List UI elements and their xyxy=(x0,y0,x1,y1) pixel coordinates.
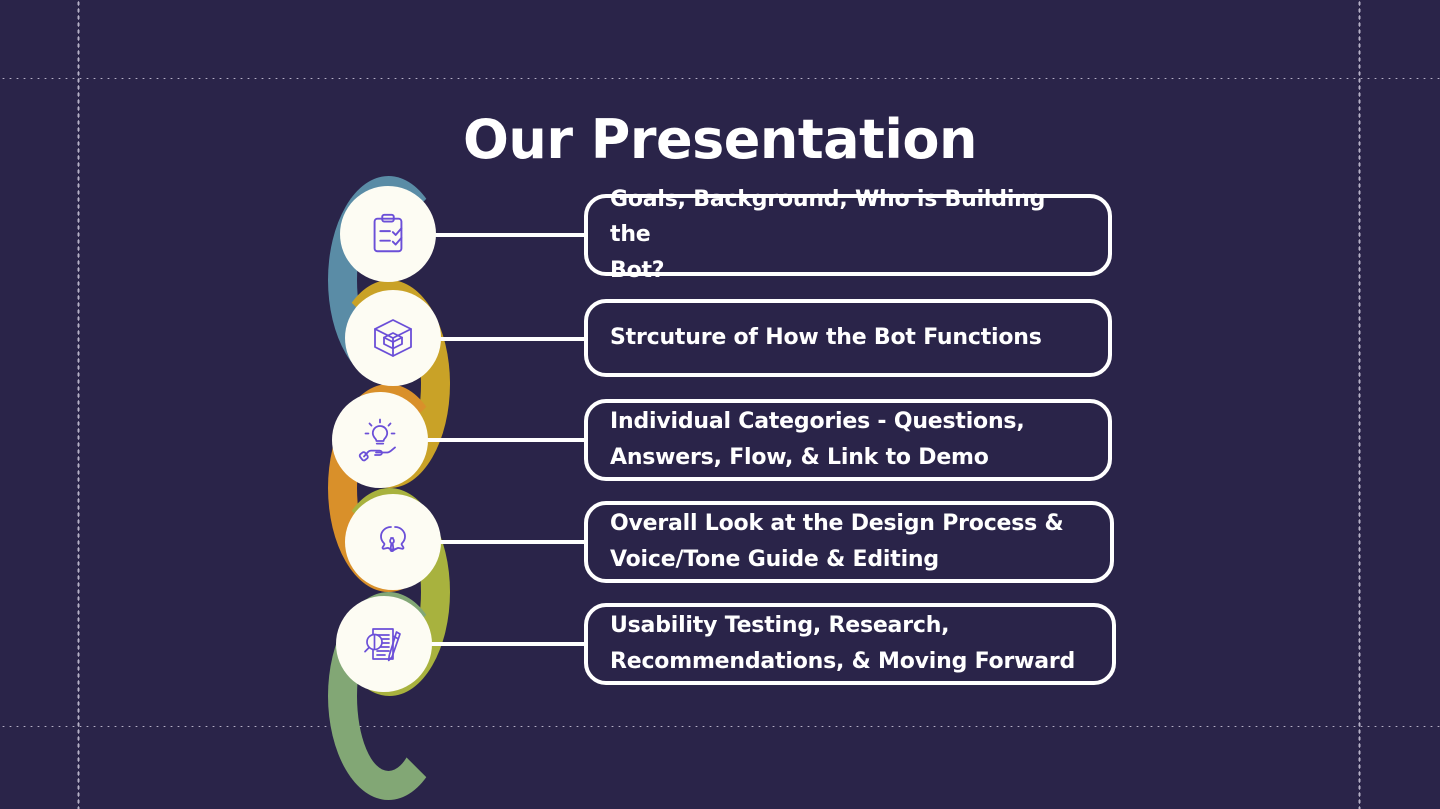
agenda-card-3-line-1: Individual Categories - Questions, xyxy=(610,404,1025,440)
agenda-card-4[interactable]: Overall Look at the Design Process & Voi… xyxy=(584,501,1114,583)
grid-line-horizontal-top xyxy=(0,77,1440,80)
grid-line-horizontal-bottom xyxy=(0,725,1440,728)
agenda-card-1-line-1: Goals, Background, Who is Building the xyxy=(610,182,1088,253)
agenda-card-3-line-2: Answers, Flow, & Link to Demo xyxy=(610,440,1025,476)
agenda-card-5-line-2: Recommendations, & Moving Forward xyxy=(610,644,1075,680)
agenda-card-2-line-1: Strcuture of How the Bot Functions xyxy=(610,320,1042,356)
agenda-card-2[interactable]: Strcuture of How the Bot Functions xyxy=(584,299,1112,377)
agenda-icon-node-1[interactable] xyxy=(340,186,436,282)
connector-line-1 xyxy=(432,233,588,237)
document-magnifier-pen-icon xyxy=(360,620,408,668)
agenda-icon-node-2[interactable] xyxy=(345,290,441,386)
agenda-icon-node-5[interactable] xyxy=(336,596,432,692)
agenda-card-5[interactable]: Usability Testing, Research, Recommendat… xyxy=(584,603,1116,685)
cube-box-icon xyxy=(369,314,417,362)
agenda-card-1[interactable]: Goals, Background, Who is Building the B… xyxy=(584,194,1112,276)
clipboard-checklist-icon xyxy=(365,211,411,257)
slide-title: Our Presentation xyxy=(0,108,1440,171)
connector-line-3 xyxy=(424,438,588,442)
connector-line-2 xyxy=(437,337,588,341)
agenda-icon-node-3[interactable] xyxy=(332,392,428,488)
connector-line-5 xyxy=(428,642,588,646)
agenda-card-1-line-2: Bot? xyxy=(610,253,1088,289)
presentation-slide: Our Presentation xyxy=(0,0,1440,809)
agenda-icon-node-4[interactable] xyxy=(345,494,441,590)
two-people-conversation-icon xyxy=(369,518,417,566)
agenda-card-4-line-2: Voice/Tone Guide & Editing xyxy=(610,542,1064,578)
agenda-card-3[interactable]: Individual Categories - Questions, Answe… xyxy=(584,399,1112,481)
agenda-card-4-line-1: Overall Look at the Design Process & xyxy=(610,506,1064,542)
connector-line-4 xyxy=(437,540,588,544)
agenda-card-5-line-1: Usability Testing, Research, xyxy=(610,608,1075,644)
arc-segment-5-lower xyxy=(328,696,449,800)
hand-lightbulb-idea-icon xyxy=(356,416,404,464)
